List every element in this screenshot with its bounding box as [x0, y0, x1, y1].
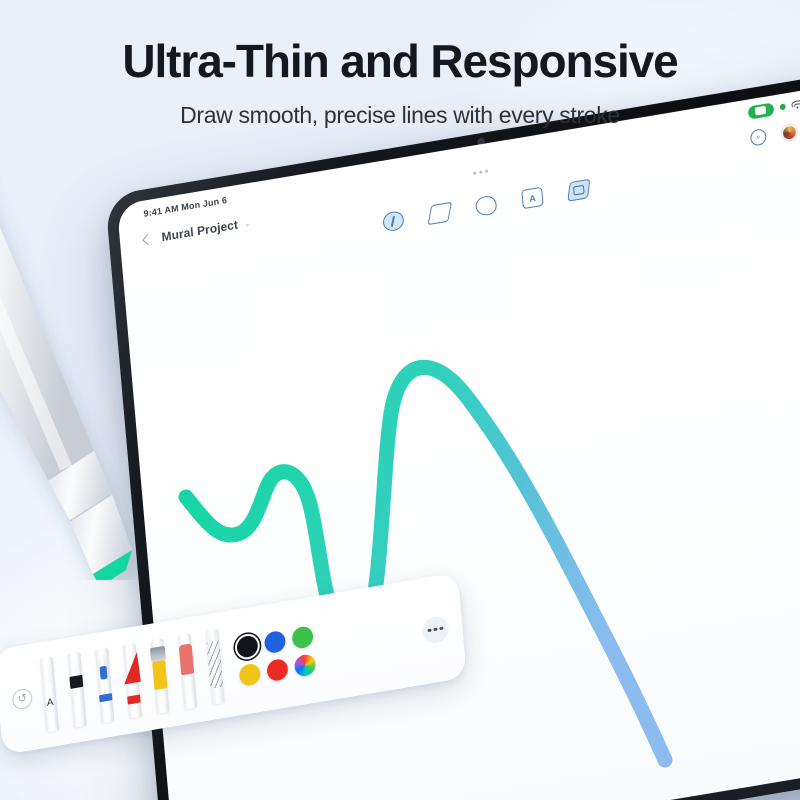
palette-ruler[interactable]	[202, 628, 225, 705]
shape-tool-icon[interactable]	[429, 202, 451, 224]
swatch-yellow[interactable]	[239, 662, 262, 686]
swatch-red[interactable]	[266, 658, 289, 682]
text-tool-icon[interactable]: A	[521, 187, 543, 209]
more-options-button[interactable]	[422, 614, 450, 644]
undo-icon[interactable]: ↺	[12, 687, 33, 710]
palette-eraser-pink[interactable]	[175, 632, 200, 709]
color-swatch-grid	[236, 625, 316, 687]
ink-tool-icon[interactable]	[382, 210, 404, 232]
hero-text-block: Ultra-Thin and Responsive Draw smooth, p…	[0, 38, 800, 129]
swatch-green[interactable]	[291, 625, 314, 649]
lasso-tool-icon[interactable]	[475, 195, 497, 217]
page-subtitle: Draw smooth, precise lines with every st…	[0, 102, 800, 129]
palette-pen-blue[interactable]	[92, 646, 117, 723]
stylus-pen	[0, 150, 210, 580]
search-icon[interactable]: ⌕	[750, 128, 767, 147]
swatch-rainbow[interactable]	[294, 653, 317, 677]
palette-marker-red[interactable]	[120, 642, 145, 719]
palette-text-tool[interactable]: A	[37, 655, 62, 732]
swatch-blue[interactable]	[264, 630, 287, 654]
media-tool-icon[interactable]	[568, 179, 590, 201]
palette-highlighter-yellow[interactable]	[147, 637, 172, 714]
pen-tool-list: A	[37, 628, 226, 732]
palette-pen-black[interactable]	[64, 651, 89, 728]
swatch-black[interactable]	[236, 634, 259, 658]
chevron-down-icon[interactable]: ⌄	[243, 218, 250, 228]
page-title: Ultra-Thin and Responsive	[0, 38, 800, 85]
